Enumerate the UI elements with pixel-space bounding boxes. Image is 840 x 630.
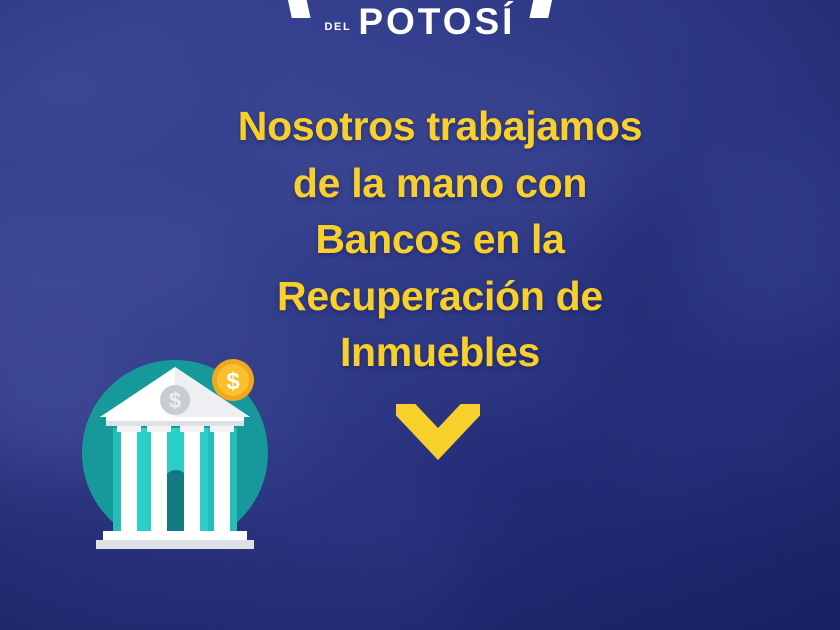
headline-line-1: Nosotros trabajamos: [190, 98, 690, 155]
logo-left-chevron-icon: [285, 0, 311, 18]
logo-right-chevron-icon: [529, 0, 555, 18]
promo-canvas: DEL POTOSÍ Nosotros trabajamos de la man…: [0, 0, 840, 630]
headline: Nosotros trabajamos de la mano con Banco…: [190, 98, 690, 381]
brand-logo[interactable]: DEL POTOSÍ: [0, 0, 840, 40]
svg-text:$: $: [226, 368, 240, 395]
headline-line-3: Bancos en la: [190, 211, 690, 268]
gold-dollar-coin-icon: $: [212, 359, 254, 401]
logo-del-label: DEL: [325, 22, 352, 40]
headline-line-4: Recuperación de: [190, 268, 690, 325]
bank-building-icon: $ $: [80, 355, 280, 555]
svg-text:$: $: [169, 388, 181, 413]
logo-name-label: POTOSÍ: [358, 3, 515, 40]
headline-line-2: de la mano con: [190, 155, 690, 212]
chevron-down-icon[interactable]: [396, 404, 480, 466]
